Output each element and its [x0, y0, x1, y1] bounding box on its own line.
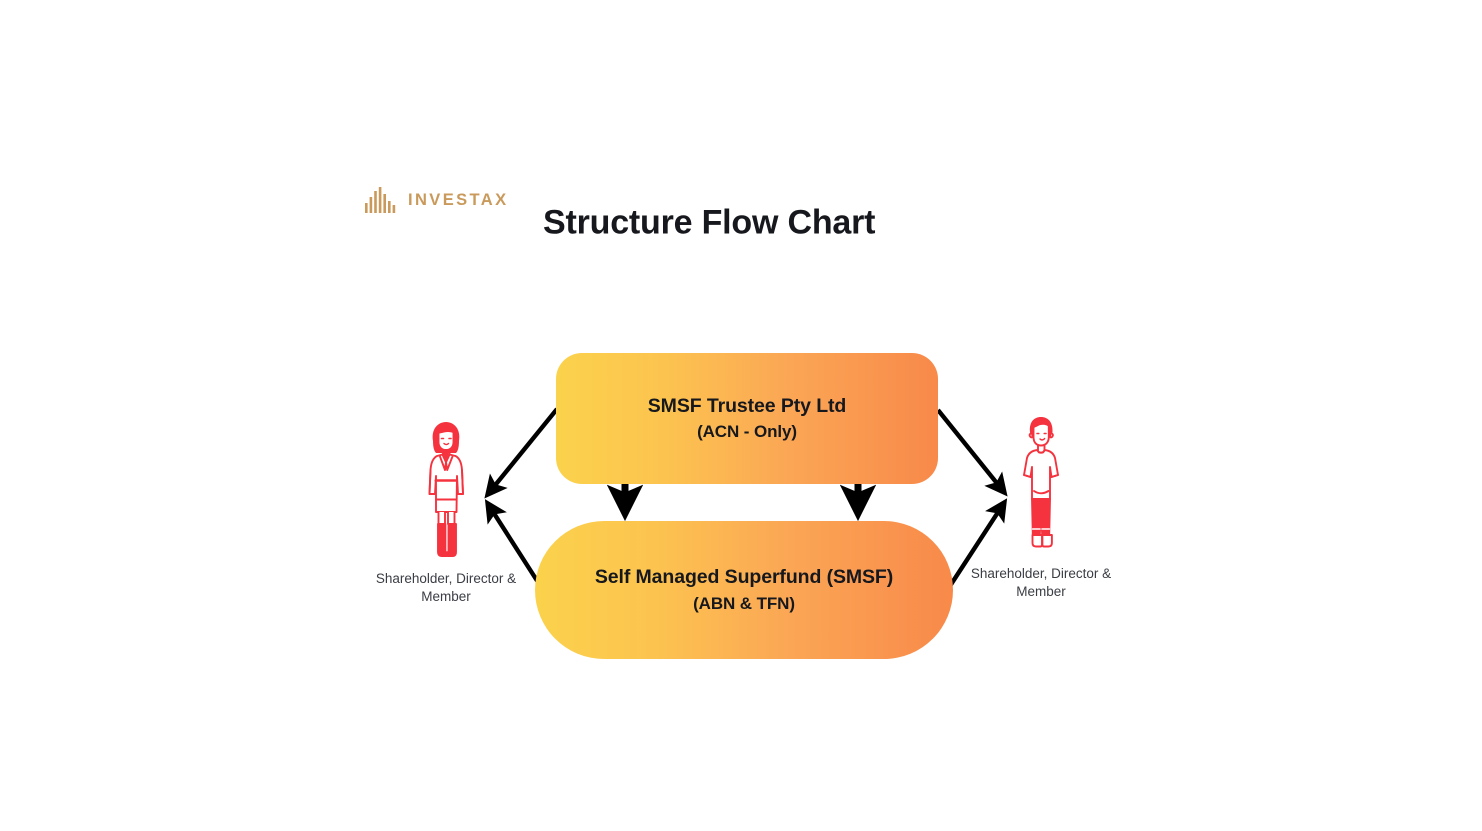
logo-wordmark: INVESTAX — [408, 192, 509, 209]
person-right-caption: Shareholder, Director & Member — [966, 565, 1116, 601]
structure-flow-chart-canvas: INVESTAX Structure Flow Chart — [0, 0, 1482, 831]
person-left-caption: Shareholder, Director & Member — [371, 570, 521, 606]
person-left: Shareholder, Director & Member — [390, 420, 502, 606]
investax-logo: INVESTAX — [365, 185, 509, 215]
page-title: Structure Flow Chart — [543, 203, 875, 242]
header: INVESTAX Structure Flow Chart — [365, 170, 509, 230]
node-smsf-trustee-title: SMSF Trustee Pty Ltd — [648, 395, 846, 418]
node-self-managed-superfund-subtitle: (ABN & TFN) — [693, 594, 795, 614]
man-icon — [1015, 415, 1067, 557]
node-smsf-trustee[interactable]: SMSF Trustee Pty Ltd (ACN - Only) — [556, 353, 938, 484]
node-smsf-trustee-subtitle: (ACN - Only) — [697, 422, 797, 442]
businesswoman-icon — [420, 420, 472, 562]
node-self-managed-superfund[interactable]: Self Managed Superfund (SMSF) (ABN & TFN… — [535, 521, 953, 659]
node-self-managed-superfund-title: Self Managed Superfund (SMSF) — [595, 566, 893, 589]
person-right: Shareholder, Director & Member — [985, 415, 1097, 601]
investax-bars-logo-icon — [365, 187, 399, 213]
